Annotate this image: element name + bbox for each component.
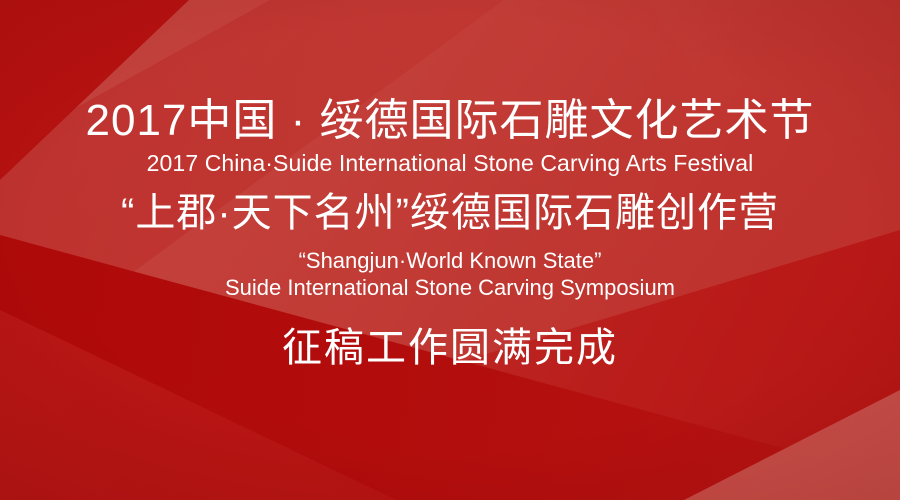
symposium-subtitle-chinese: “上郡·天下名州”绥德国际石雕创作营 [121, 192, 779, 235]
submission-status-chinese: 征稿工作圆满完成 [282, 327, 618, 370]
festival-title-english: 2017 China·Suide International Stone Car… [147, 151, 754, 176]
festival-title-chinese: 2017中国 · 绥德国际石雕文化艺术节 [86, 98, 815, 145]
symposium-slogan-english: “Shangjun·World Known State” [299, 248, 602, 273]
symposium-subtitle-english: Suide International Stone Carving Sympos… [225, 275, 675, 300]
banner-text-block: 2017中国 · 绥德国际石雕文化艺术节 2017 China·Suide In… [0, 0, 900, 500]
festival-banner: 2017中国 · 绥德国际石雕文化艺术节 2017 China·Suide In… [0, 0, 900, 500]
